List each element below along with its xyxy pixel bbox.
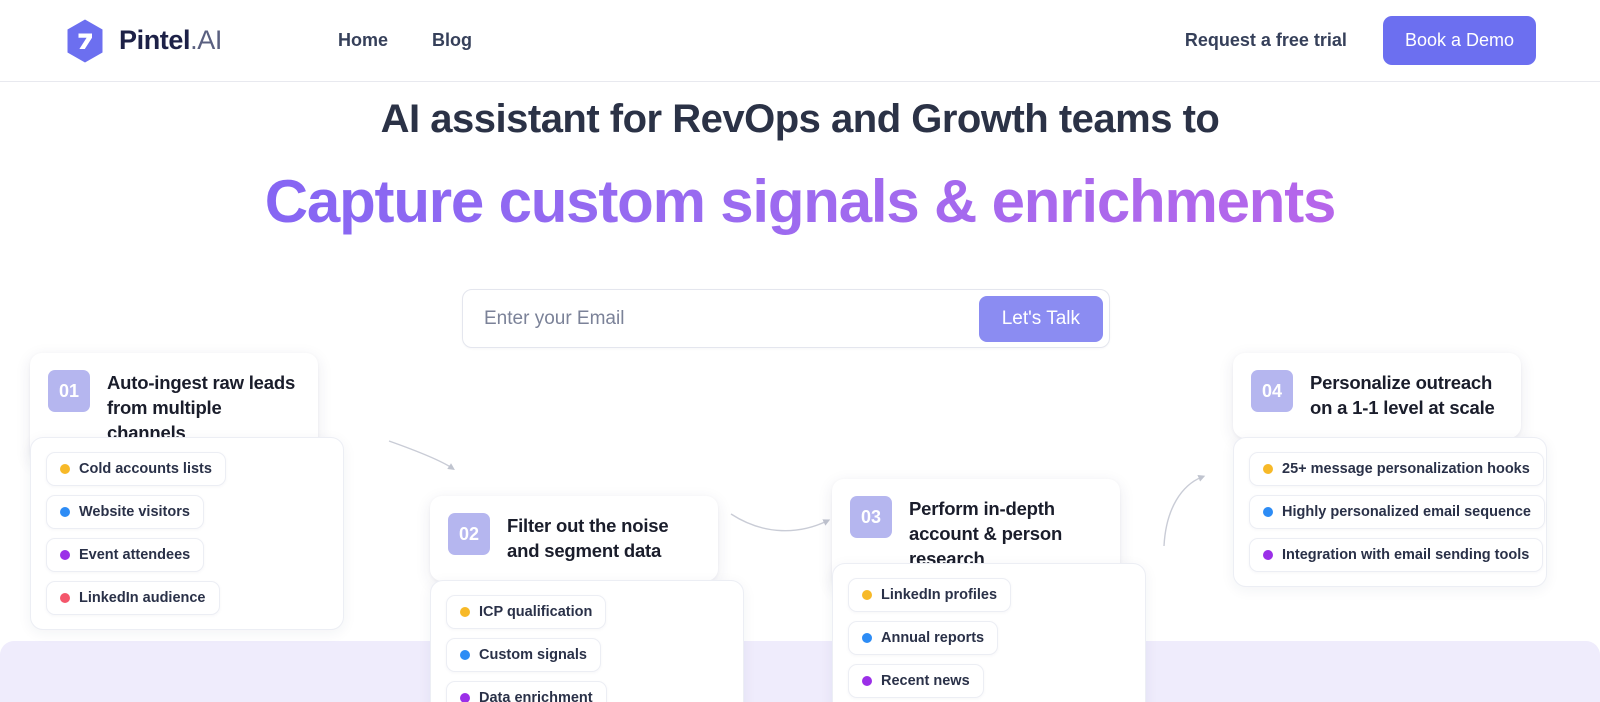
tag-label: Custom signals (479, 647, 587, 663)
tag-item[interactable]: Event attendees (46, 538, 204, 572)
tag-row: LinkedIn profiles Annual reports Recent … (848, 578, 1130, 702)
step-card-02[interactable]: 02 Filter out the noise and segment data (430, 496, 718, 581)
status-dot-icon (60, 550, 70, 560)
tag-card-03: LinkedIn profiles Annual reports Recent … (832, 563, 1146, 702)
status-dot-icon (1263, 550, 1273, 560)
tag-item[interactable]: Data enrichment (446, 681, 607, 702)
status-dot-icon (460, 650, 470, 660)
step-title: Filter out the noise and segment data (507, 513, 698, 564)
status-dot-icon (60, 593, 70, 603)
status-dot-icon (460, 607, 470, 617)
tag-label: Cold accounts lists (79, 461, 212, 477)
status-dot-icon (60, 464, 70, 474)
tag-label: LinkedIn audience (79, 590, 206, 606)
tag-item[interactable]: Website visitors (46, 495, 204, 529)
step-card-04[interactable]: 04 Personalize outreach on a 1-1 level a… (1233, 353, 1521, 438)
status-dot-icon (862, 676, 872, 686)
step-number-badge: 02 (448, 513, 490, 555)
tag-item[interactable]: Annual reports (848, 621, 998, 655)
tag-item[interactable]: 25+ message personalization hooks (1249, 452, 1544, 486)
landing-page: Pintel.AI Home Blog Request a free trial… (0, 0, 1600, 702)
step-title: Perform in-depth account & person resear… (909, 496, 1100, 572)
tag-label: Annual reports (881, 630, 984, 646)
arrow-step1-to-step2 (389, 441, 452, 468)
status-dot-icon (862, 633, 872, 643)
tag-row: 25+ message personalization hooks Highly… (1249, 452, 1531, 572)
tag-item[interactable]: LinkedIn profiles (848, 578, 1011, 612)
tag-item[interactable]: Recent news (848, 664, 984, 698)
status-dot-icon (1263, 507, 1273, 517)
arrow-step2-to-step3 (731, 514, 827, 531)
tag-item[interactable]: Cold accounts lists (46, 452, 226, 486)
tag-label: 25+ message personalization hooks (1282, 461, 1530, 477)
tag-row: Cold accounts lists Website visitors Eve… (46, 452, 328, 615)
tag-item[interactable]: LinkedIn audience (46, 581, 220, 615)
step-number-badge: 01 (48, 370, 90, 412)
tag-card-02: ICP qualification Custom signals Data en… (430, 580, 744, 702)
status-dot-icon (862, 590, 872, 600)
status-dot-icon (1263, 464, 1273, 474)
tag-item[interactable]: Highly personalized email sequence (1249, 495, 1545, 529)
tag-card-04: 25+ message personalization hooks Highly… (1233, 437, 1547, 587)
tag-item[interactable]: Custom signals (446, 638, 601, 672)
tag-item[interactable]: Integration with email sending tools (1249, 538, 1543, 572)
status-dot-icon (60, 507, 70, 517)
tag-item[interactable]: ICP qualification (446, 595, 606, 629)
step-title: Auto-ingest raw leads from multiple chan… (107, 370, 298, 446)
tag-label: Recent news (881, 673, 970, 689)
status-dot-icon (460, 693, 470, 702)
tag-label: Data enrichment (479, 690, 593, 702)
tag-row: ICP qualification Custom signals Data en… (446, 595, 728, 702)
tag-label: Highly personalized email sequence (1282, 504, 1531, 520)
tag-label: LinkedIn profiles (881, 587, 997, 603)
tag-label: ICP qualification (479, 604, 592, 620)
step-title: Personalize outreach on a 1-1 level at s… (1310, 370, 1501, 421)
tag-label: Event attendees (79, 547, 190, 563)
step-number-badge: 04 (1251, 370, 1293, 412)
step-number-badge: 03 (850, 496, 892, 538)
tag-label: Website visitors (79, 504, 190, 520)
arrow-step3-to-step4 (1164, 477, 1202, 546)
workflow-diagram: 01 Auto-ingest raw leads from multiple c… (0, 0, 1600, 702)
tag-label: Integration with email sending tools (1282, 547, 1529, 563)
tag-card-01: Cold accounts lists Website visitors Eve… (30, 437, 344, 630)
